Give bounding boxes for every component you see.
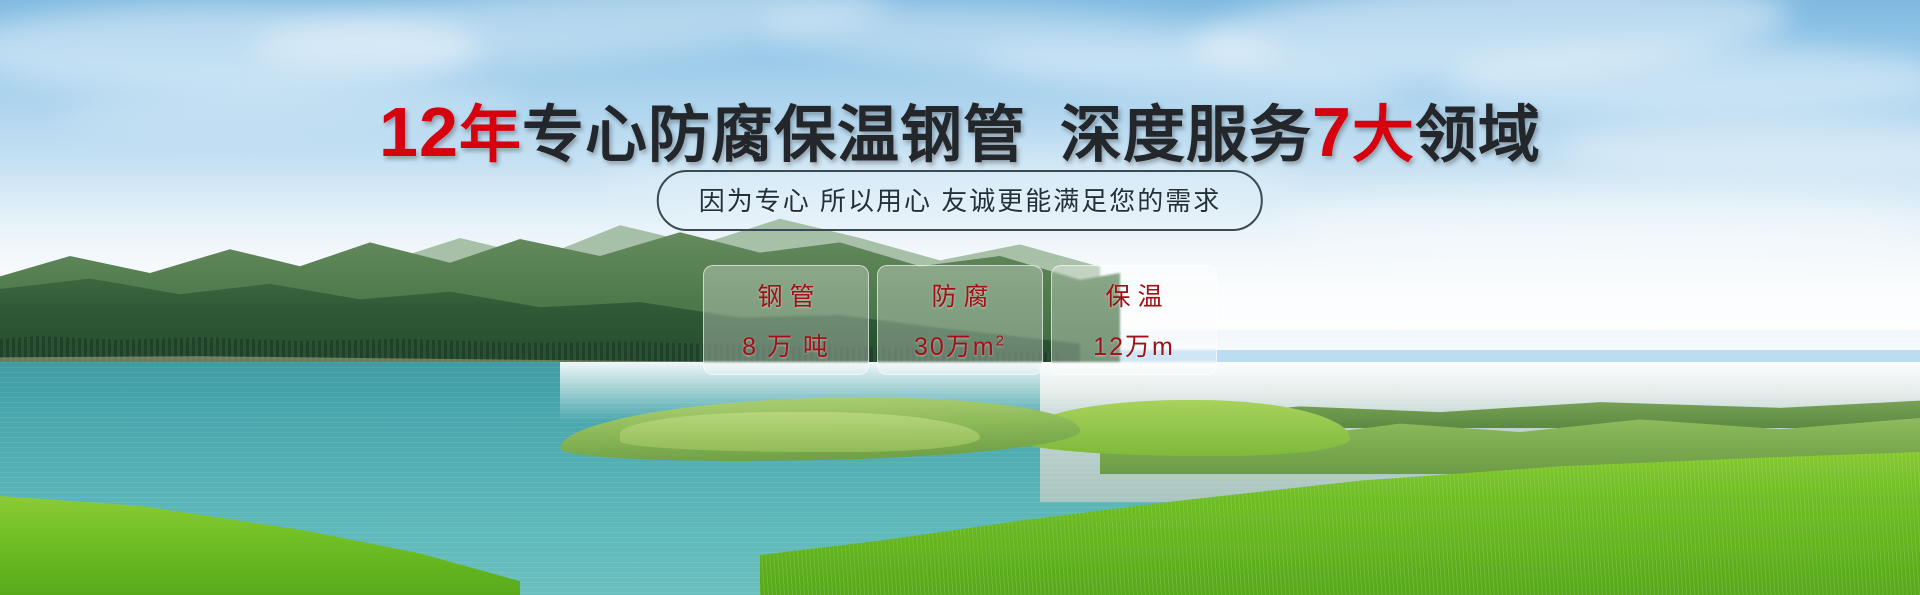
headline-fields-number: 7 [1312, 93, 1352, 171]
stat-card-title: 防腐 [924, 277, 995, 313]
banner-headline: 12年专心防腐保温钢管深度服务7大领域 [0, 84, 1920, 174]
stat-card-title: 钢管 [750, 277, 821, 313]
stat-card-value: 8 万 吨 [742, 327, 830, 363]
headline-years-unit: 年 [459, 101, 522, 170]
stat-card-value-superscript: 2 [996, 333, 1006, 350]
headline-fields-unit: 大 [1352, 101, 1415, 170]
stat-card-group: 钢管 8 万 吨 防腐 30万m2 保温 12万m [703, 265, 1217, 375]
headline-service-text: 深度服务 [1060, 101, 1312, 170]
stat-card-value: 12万m [1093, 327, 1175, 363]
stat-card-steel-pipe[interactable]: 钢管 8 万 吨 [703, 265, 869, 375]
banner-subtitle-pill: 因为专心 所以用心 友诚更能满足您的需求 [657, 170, 1263, 231]
stat-card-value: 30万m2 [914, 327, 1006, 363]
stat-card-insulation[interactable]: 保温 12万m [1051, 265, 1217, 375]
headline-years-number: 12 [379, 93, 459, 171]
stat-card-value-text: 30万m [914, 333, 996, 361]
headline-main-text: 专心防腐保温钢管 [522, 101, 1026, 170]
stat-card-anticorrosion[interactable]: 防腐 30万m2 [877, 265, 1043, 375]
hero-banner: 12年专心防腐保温钢管深度服务7大领域 因为专心 所以用心 友诚更能满足您的需求… [0, 0, 1920, 595]
stat-card-title: 保温 [1098, 277, 1169, 313]
center-grass-island-highlight [620, 412, 980, 452]
headline-fields-text: 领域 [1415, 101, 1541, 170]
